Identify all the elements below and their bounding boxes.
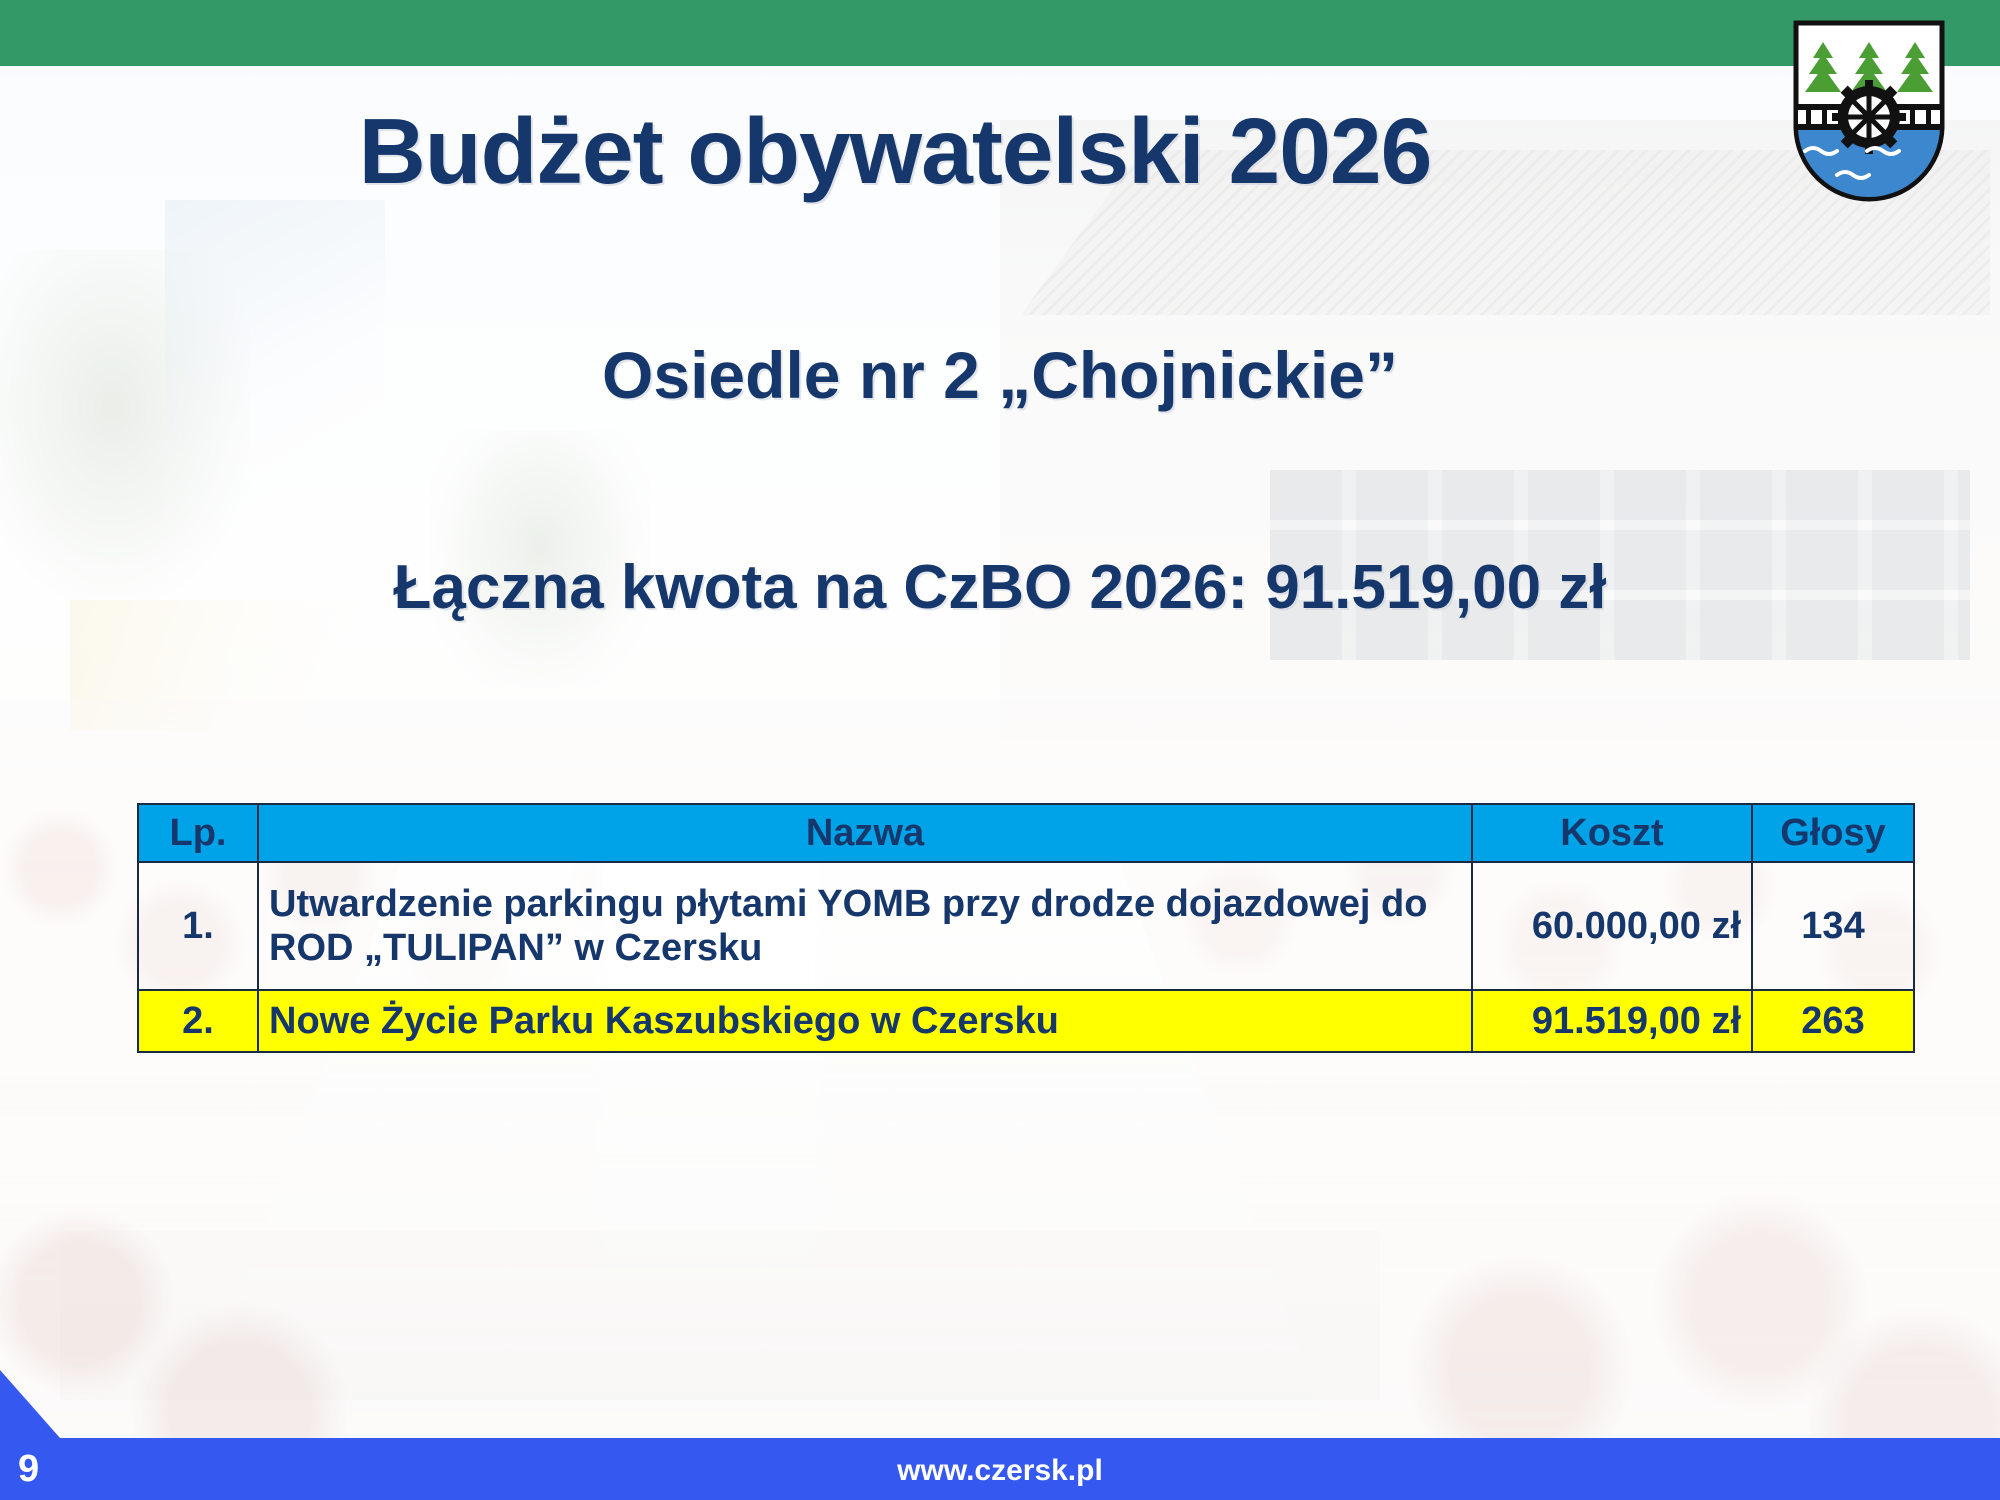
subtitle-total-amount: Łączna kwota na CzBO 2026: 91.519,00 zł [0,552,2000,623]
photo-whitewash-overlay [0,0,2000,1500]
table-header-row: Lp. Nazwa Koszt Głosy [138,804,1914,862]
slide-root: Budżet obywatelski 2026 Osiedle nr 2 „Ch… [0,0,2000,1500]
column-header-koszt: Koszt [1472,804,1752,862]
projects-table: Lp. Nazwa Koszt Głosy 1. Utwardzenie par… [137,803,1915,1053]
table-row: 1. Utwardzenie parkingu płytami YOMB prz… [138,862,1914,990]
cell-koszt: 91.519,00 zł [1472,990,1752,1052]
top-green-band [0,0,2000,66]
column-header-nazwa: Nazwa [258,804,1472,862]
table-body: 1. Utwardzenie parkingu płytami YOMB prz… [138,862,1914,1052]
cell-glosy: 263 [1752,990,1914,1052]
background-photo [0,0,2000,1500]
cell-glosy: 134 [1752,862,1914,990]
footer-bar: 9 www.czersk.pl [0,1438,2000,1500]
table-row-highlighted: 2. Nowe Życie Parku Kaszubskiego w Czers… [138,990,1914,1052]
coat-of-arms-icon [1793,20,1945,202]
cell-nazwa: Nowe Życie Parku Kaszubskiego w Czersku [258,990,1472,1052]
page-title: Budżet obywatelski 2026 [0,105,1790,198]
footer-url: www.czersk.pl [0,1454,2000,1488]
cell-nazwa: Utwardzenie parkingu płytami YOMB przy d… [258,862,1472,990]
cell-lp: 1. [138,862,258,990]
cell-koszt: 60.000,00 zł [1472,862,1752,990]
cell-lp: 2. [138,990,258,1052]
subtitle-district: Osiedle nr 2 „Chojnickie” [0,337,2000,413]
column-header-lp: Lp. [138,804,258,862]
column-header-glosy: Głosy [1752,804,1914,862]
table-header: Lp. Nazwa Koszt Głosy [138,804,1914,862]
